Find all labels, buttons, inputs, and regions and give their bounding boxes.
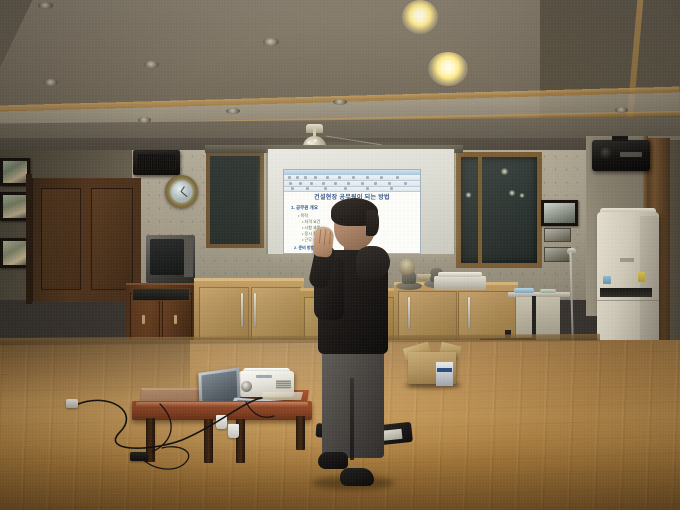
speaker-cone (600, 147, 613, 160)
cabinet-knob[interactable] (142, 315, 145, 324)
microphone-head (567, 248, 576, 255)
window-behind-screen (456, 152, 542, 268)
cable-run (78, 398, 262, 448)
clock-face (172, 182, 191, 201)
window-light-reflection (519, 193, 525, 198)
presenter-shoe (340, 468, 374, 486)
downlight-icon (44, 79, 58, 86)
presenter-raised-hand (312, 226, 334, 258)
downlight-icon (333, 99, 347, 105)
printer (434, 276, 486, 290)
framed-picture-right (541, 200, 578, 226)
speaker-grille (137, 154, 176, 170)
presenter-hair-side (366, 210, 379, 236)
photo-image (3, 161, 27, 183)
air-conditioner-sticker (603, 276, 611, 284)
speaker-bracket (612, 136, 628, 141)
stereo-panel (132, 288, 190, 301)
shelf-item (540, 289, 556, 293)
printer-tray (438, 272, 482, 277)
photo-image (544, 203, 575, 223)
left-sliding-door[interactable] (30, 178, 141, 302)
air-conditioner-seam (597, 300, 659, 301)
photo-scene: 건설현장 공무원이 되는 방법 1. 공무원 개요 • 목적 • 자격 요건 •… (0, 0, 680, 510)
downlight-icon (226, 108, 240, 114)
door-panel (91, 188, 133, 290)
wall-photo-small (544, 228, 571, 242)
cable-short (246, 402, 274, 417)
presenter-shoe (318, 452, 348, 469)
downlight-icon (144, 61, 159, 68)
clock-hand-minute (181, 191, 188, 197)
window-mullion (478, 154, 482, 266)
window-light-reflection (465, 192, 472, 198)
photo-image (3, 195, 28, 218)
tv-screen (150, 239, 184, 275)
window-light-reflection (500, 168, 509, 175)
door-panel (41, 188, 81, 290)
cabinet-handle[interactable] (241, 293, 243, 327)
power-adapter (130, 452, 148, 461)
speaker-badge (620, 152, 642, 157)
downlight-lit-icon (428, 52, 468, 86)
air-conditioner-sticker (638, 272, 645, 282)
cabinet-handle[interactable] (468, 297, 470, 329)
downlight-icon (138, 117, 151, 123)
window-left (206, 152, 264, 248)
downlight-icon (38, 2, 53, 9)
window-light-reflection (508, 190, 516, 196)
tv-side-panel (184, 239, 193, 277)
air-conditioner-vent (600, 288, 652, 297)
cabinet-handle[interactable] (254, 293, 256, 327)
trouser-seam (350, 378, 354, 460)
white-plug-adapter (66, 399, 78, 408)
downlight-lit-icon (402, 0, 438, 34)
downlight-icon (263, 38, 279, 46)
cabinet-knob[interactable] (174, 315, 177, 324)
air-conditioner-label (620, 258, 634, 262)
downlight-icon (615, 107, 628, 113)
shelf-item (514, 288, 534, 293)
